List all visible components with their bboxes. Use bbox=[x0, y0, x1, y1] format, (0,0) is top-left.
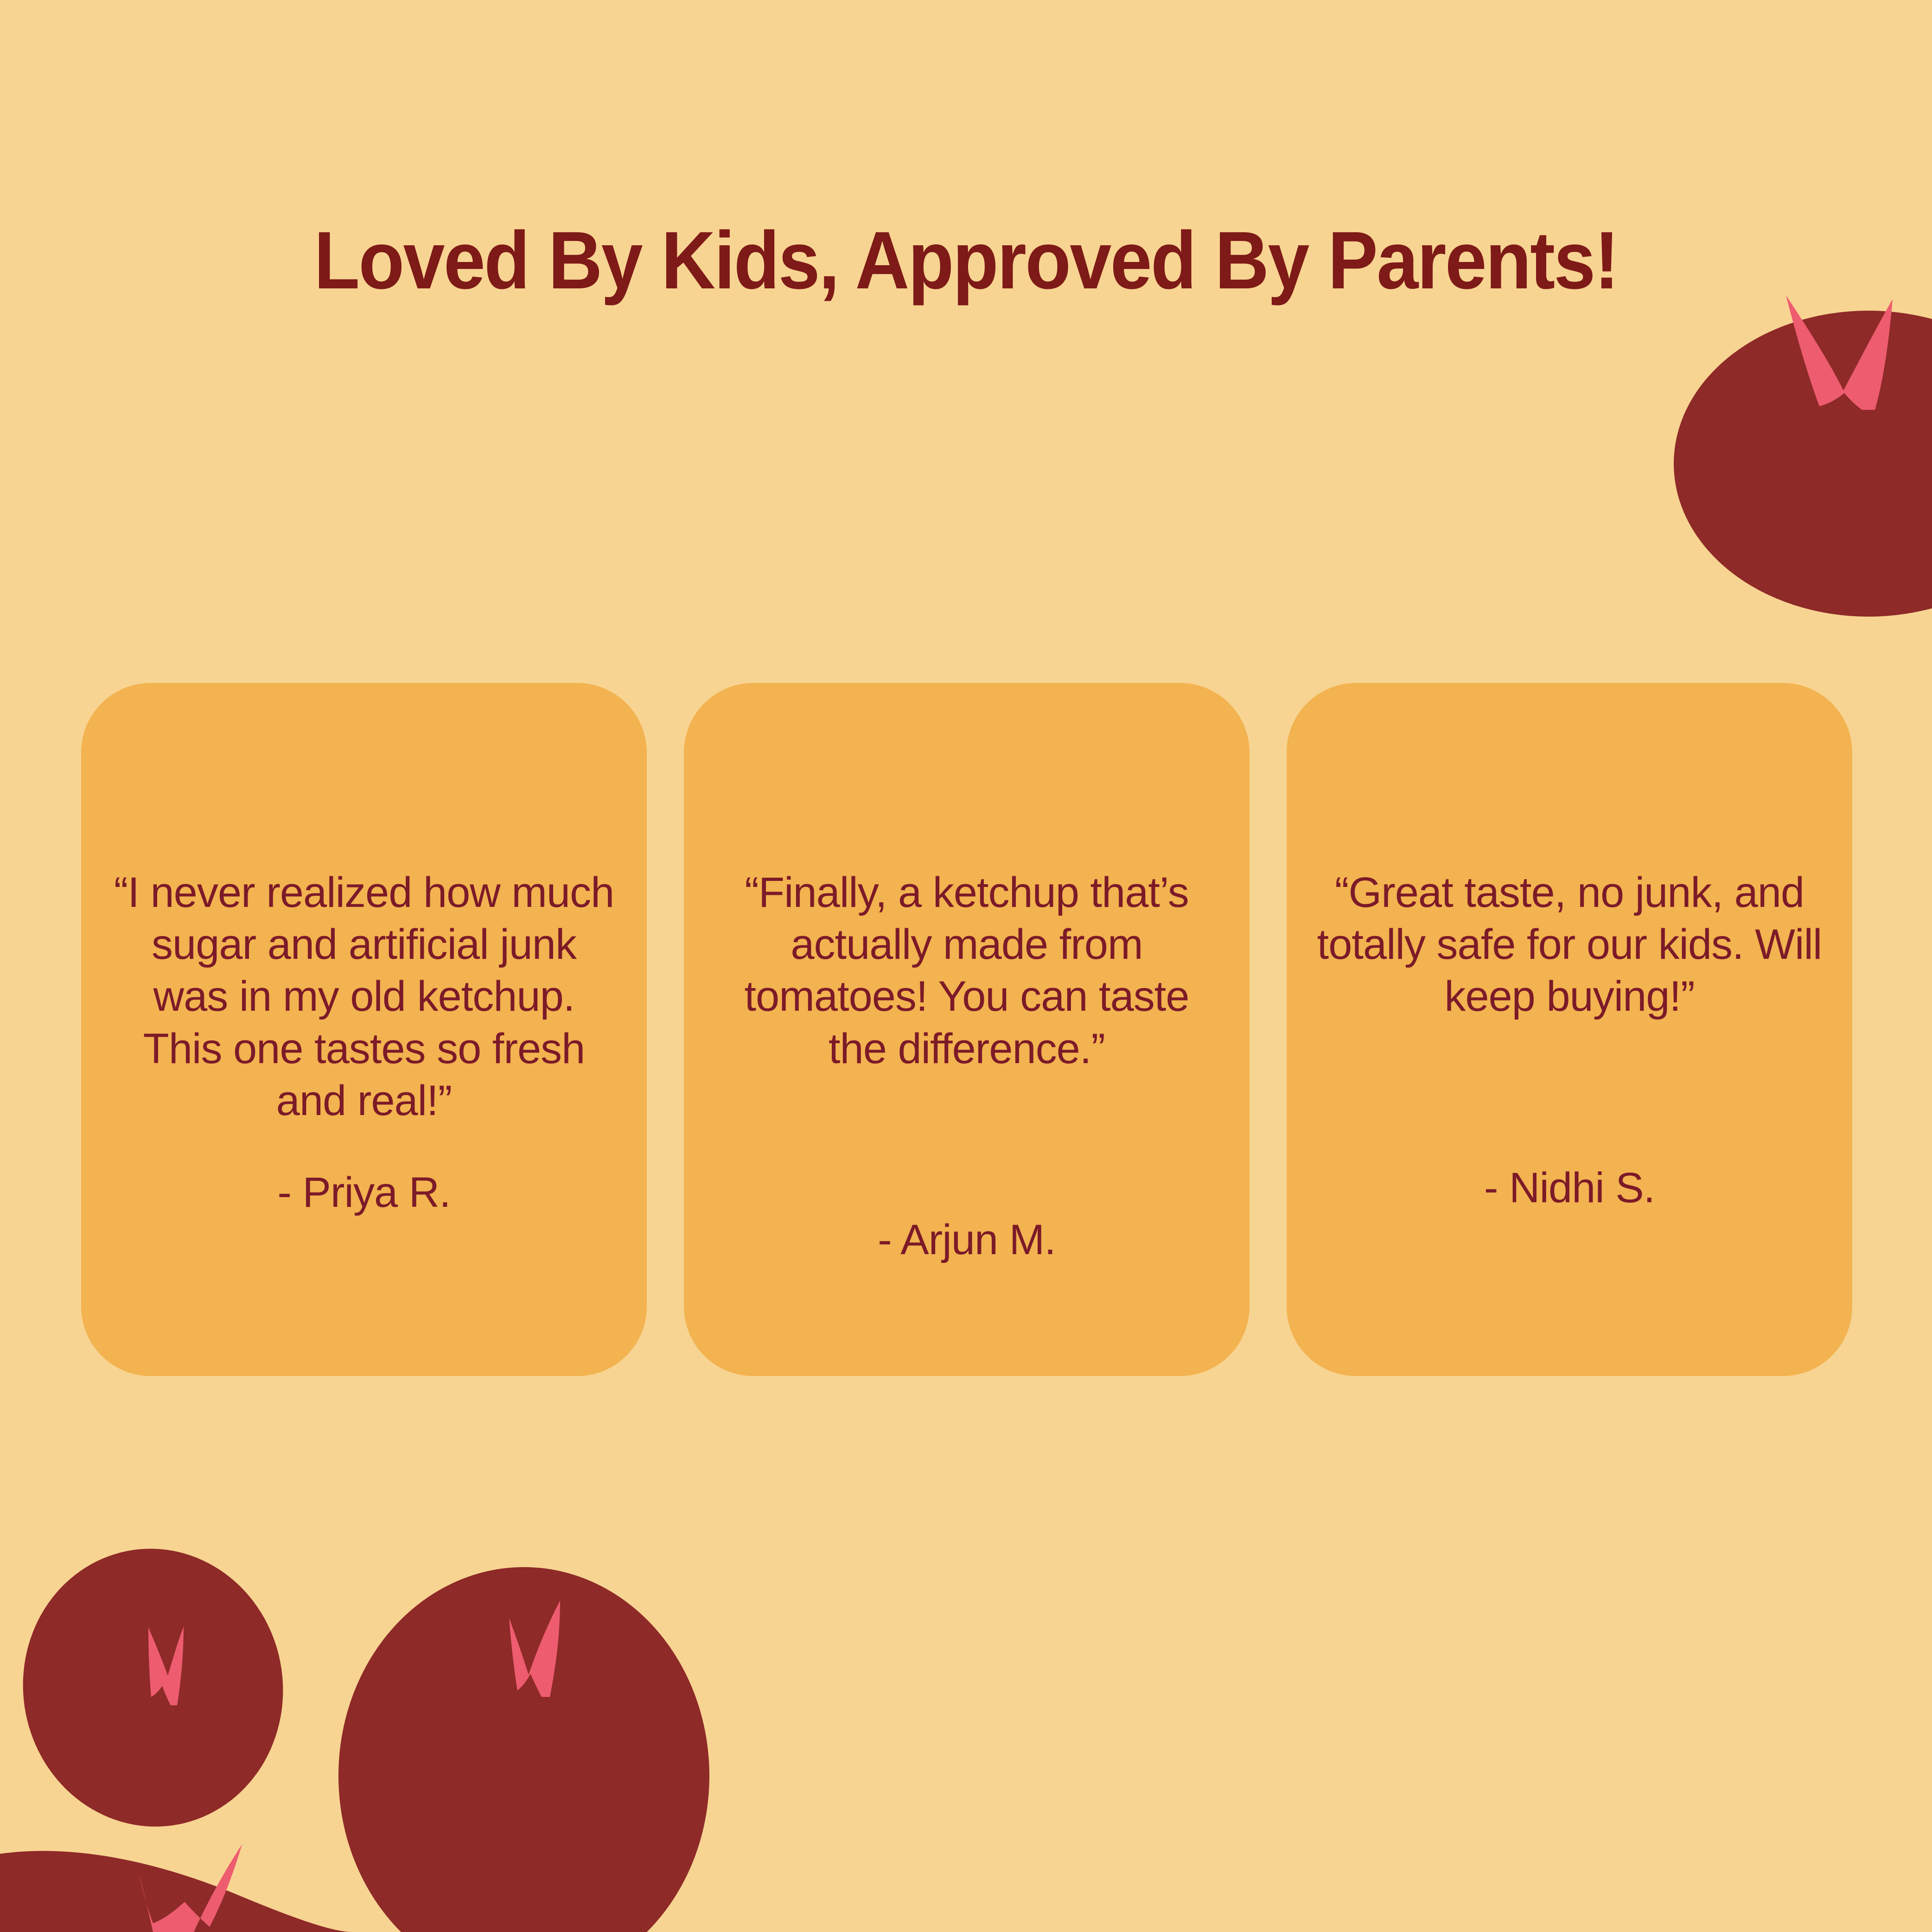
tomato-bottom-center-icon bbox=[338, 1567, 709, 1932]
testimonial-quote: “Great taste, no junk, and totally safe … bbox=[1315, 867, 1824, 1023]
testimonial-card: “I never realized how much sugar and art… bbox=[81, 683, 647, 1376]
testimonial-card: “Finally, a ketchup that’s actually made… bbox=[684, 683, 1250, 1376]
tomato-top-right-icon bbox=[1674, 295, 1932, 617]
testimonial-author: - Priya R. bbox=[110, 1167, 618, 1218]
testimonial-quote: “Finally, a ketchup that’s actually made… bbox=[713, 867, 1221, 1075]
poster-canvas: Loved By Kids, Approved By Parents! “I n… bbox=[0, 0, 1932, 1932]
page-title: Loved By Kids, Approved By Parents! bbox=[77, 218, 1855, 304]
tomato-bottom-corner-icon bbox=[0, 1844, 352, 1932]
testimonial-author: - Arjun M. bbox=[713, 1214, 1221, 1266]
testimonial-quote: “I never realized how much sugar and art… bbox=[110, 867, 618, 1127]
testimonial-author: - Nidhi S. bbox=[1315, 1162, 1824, 1214]
testimonial-card: “Great taste, no junk, and totally safe … bbox=[1287, 683, 1852, 1376]
tomato-bottom-left-small-icon bbox=[5, 1532, 301, 1843]
testimonial-card-list: “I never realized how much sugar and art… bbox=[81, 683, 1852, 1376]
